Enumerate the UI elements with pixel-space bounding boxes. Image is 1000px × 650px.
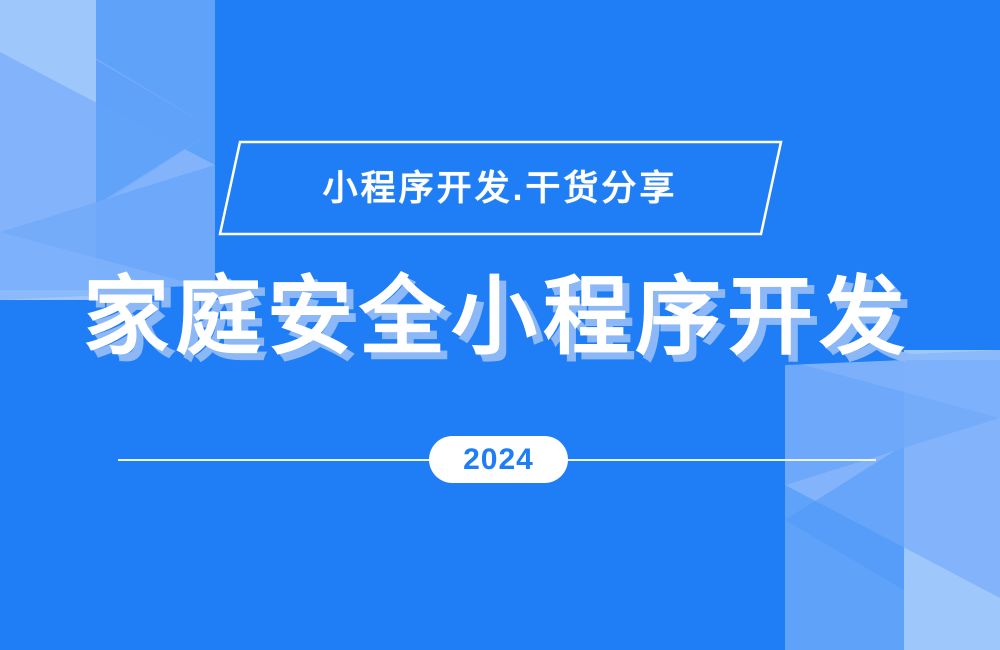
- subtitle-block: 小程序开发.干货分享: [0, 138, 1000, 238]
- deco-right-triangle-lower: [785, 418, 1000, 598]
- deco-right-pale-band: [904, 350, 1000, 650]
- deco-right-triangle-upper: [785, 360, 1000, 485]
- page-title: 家庭安全小程序开发: [83, 274, 917, 360]
- divider-rule-left: [118, 459, 430, 461]
- divider-rule-right: [566, 459, 876, 461]
- year-label: 2024: [463, 445, 534, 475]
- subtitle-text: 小程序开发.干货分享: [0, 138, 1000, 238]
- deco-right-mid-band: [785, 365, 904, 650]
- title-row: 家庭安全小程序开发: [0, 258, 1000, 376]
- deco-right-arrowhead: [785, 445, 904, 590]
- year-badge: 2024: [429, 436, 568, 483]
- banner-root: 小程序开发.干货分享 家庭安全小程序开发 2024: [0, 0, 1000, 650]
